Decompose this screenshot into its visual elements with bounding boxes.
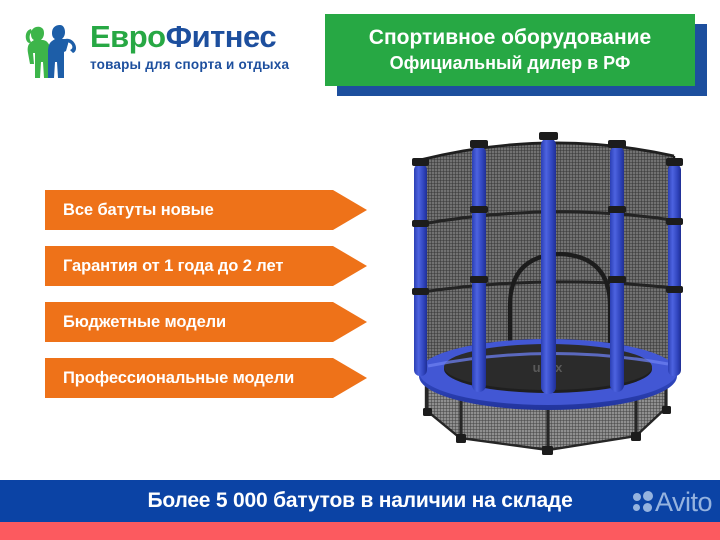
brand-name-part2: Фитнес xyxy=(166,19,277,54)
athlete-figures-icon xyxy=(22,20,86,82)
feature-arrow: Гарантия от 1 года до 2 лет xyxy=(45,246,367,286)
avito-watermark: Avito xyxy=(633,487,712,517)
feature-arrow: Профессиональные модели xyxy=(45,358,367,398)
brand-logo: ЕвроФитнес товары для спорта и отдыха xyxy=(22,18,322,88)
advertisement-banner: ЕвроФитнес товары для спорта и отдыха Сп… xyxy=(0,0,720,540)
feature-list: Все батуты новые Гарантия от 1 года до 2… xyxy=(45,190,367,414)
brand-name: ЕвроФитнес xyxy=(90,18,325,56)
trampoline-product-image: unix xyxy=(398,120,708,470)
bottom-banner: Более 5 000 батутов в наличии на складе xyxy=(0,480,720,522)
feature-label: Все батуты новые xyxy=(45,201,214,220)
header-banner: Спортивное оборудование Официальный диле… xyxy=(325,14,695,86)
brand-name-part1: Евро xyxy=(90,19,166,54)
avito-wordmark: Avito xyxy=(655,488,712,516)
bottom-accent-strip xyxy=(0,522,720,540)
brand-wordmark: ЕвроФитнес товары для спорта и отдыха xyxy=(90,18,325,73)
feature-label: Бюджетные модели xyxy=(45,313,226,332)
header-banner-line2: Официальный дилер в РФ xyxy=(390,51,631,75)
brand-tagline: товары для спорта и отдыха xyxy=(90,57,325,73)
avito-dots-icon xyxy=(633,491,653,513)
feature-label: Гарантия от 1 года до 2 лет xyxy=(45,257,283,276)
header-banner-line1: Спортивное оборудование xyxy=(369,25,651,51)
feature-arrow: Бюджетные модели xyxy=(45,302,367,342)
bottom-banner-text: Более 5 000 батутов в наличии на складе xyxy=(147,489,572,513)
feature-label: Профессиональные модели xyxy=(45,369,294,388)
feature-arrow: Все батуты новые xyxy=(45,190,367,230)
